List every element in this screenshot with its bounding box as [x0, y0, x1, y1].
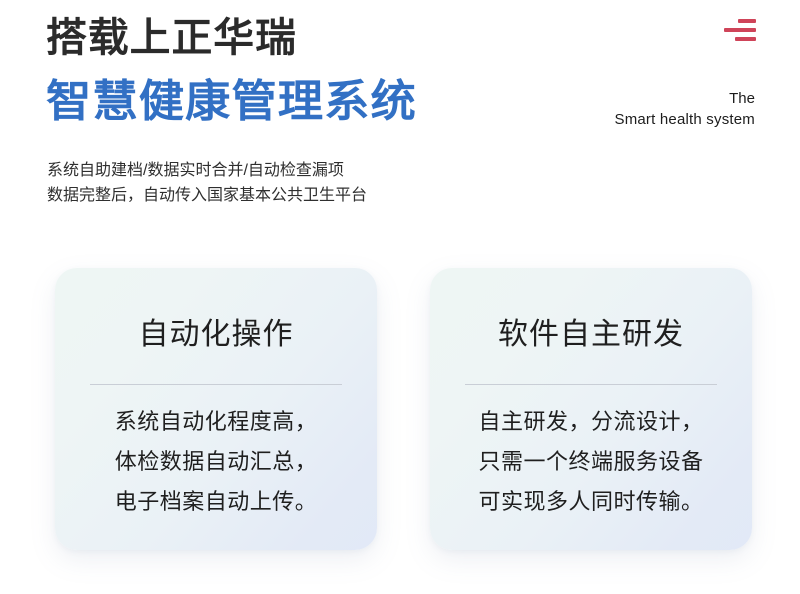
hamburger-icon-bar-bottom — [735, 37, 756, 41]
feature-card-body-line: 系统自动化程度高， — [55, 402, 377, 442]
feature-card-list: 自动化操作 系统自动化程度高， 体检数据自动汇总， 电子档案自动上传。 软件自主… — [0, 268, 800, 558]
feature-card-body-line: 只需一个终端服务设备 — [430, 442, 752, 482]
feature-card-body: 自主研发，分流设计， 只需一个终端服务设备 可实现多人同时传输。 — [430, 402, 752, 522]
hamburger-icon-bar-middle — [724, 28, 756, 32]
hamburger-icon[interactable] — [722, 19, 756, 45]
feature-card-divider — [465, 384, 717, 385]
feature-card-body-line: 可实现多人同时传输。 — [430, 482, 752, 522]
page-header: 搭载上正华瑞 智慧健康管理系统 系统自助建档/数据实时合并/自动检查漏项 数据完… — [0, 0, 800, 240]
feature-card-body-line: 体检数据自动汇总， — [55, 442, 377, 482]
hamburger-icon-bar-top — [738, 19, 756, 23]
feature-card-title: 软件自主研发 — [430, 315, 752, 355]
english-subtitle: The Smart health system — [614, 88, 755, 130]
feature-card-body-line: 自主研发，分流设计， — [430, 402, 752, 442]
page-description-line-2: 数据完整后，自动传入国家基本公共卫生平台 — [47, 183, 367, 208]
page-title-secondary: 智慧健康管理系统 — [46, 75, 417, 129]
feature-card[interactable]: 自动化操作 系统自动化程度高， 体检数据自动汇总， 电子档案自动上传。 — [55, 268, 377, 550]
feature-card-divider — [90, 384, 342, 385]
english-subtitle-line-1: The — [614, 88, 755, 109]
page-description-line-1: 系统自助建档/数据实时合并/自动检查漏项 — [47, 158, 367, 183]
promo-page: 搭载上正华瑞 智慧健康管理系统 系统自助建档/数据实时合并/自动检查漏项 数据完… — [0, 0, 800, 594]
page-description: 系统自助建档/数据实时合并/自动检查漏项 数据完整后，自动传入国家基本公共卫生平… — [47, 158, 367, 208]
feature-card-body-line: 电子档案自动上传。 — [55, 482, 377, 522]
feature-card-body: 系统自动化程度高， 体检数据自动汇总， 电子档案自动上传。 — [55, 402, 377, 522]
page-title-primary: 搭载上正华瑞 — [46, 14, 297, 62]
feature-card-title: 自动化操作 — [55, 315, 377, 355]
english-subtitle-line-2: Smart health system — [614, 109, 755, 130]
feature-card[interactable]: 软件自主研发 自主研发，分流设计， 只需一个终端服务设备 可实现多人同时传输。 — [430, 268, 752, 550]
